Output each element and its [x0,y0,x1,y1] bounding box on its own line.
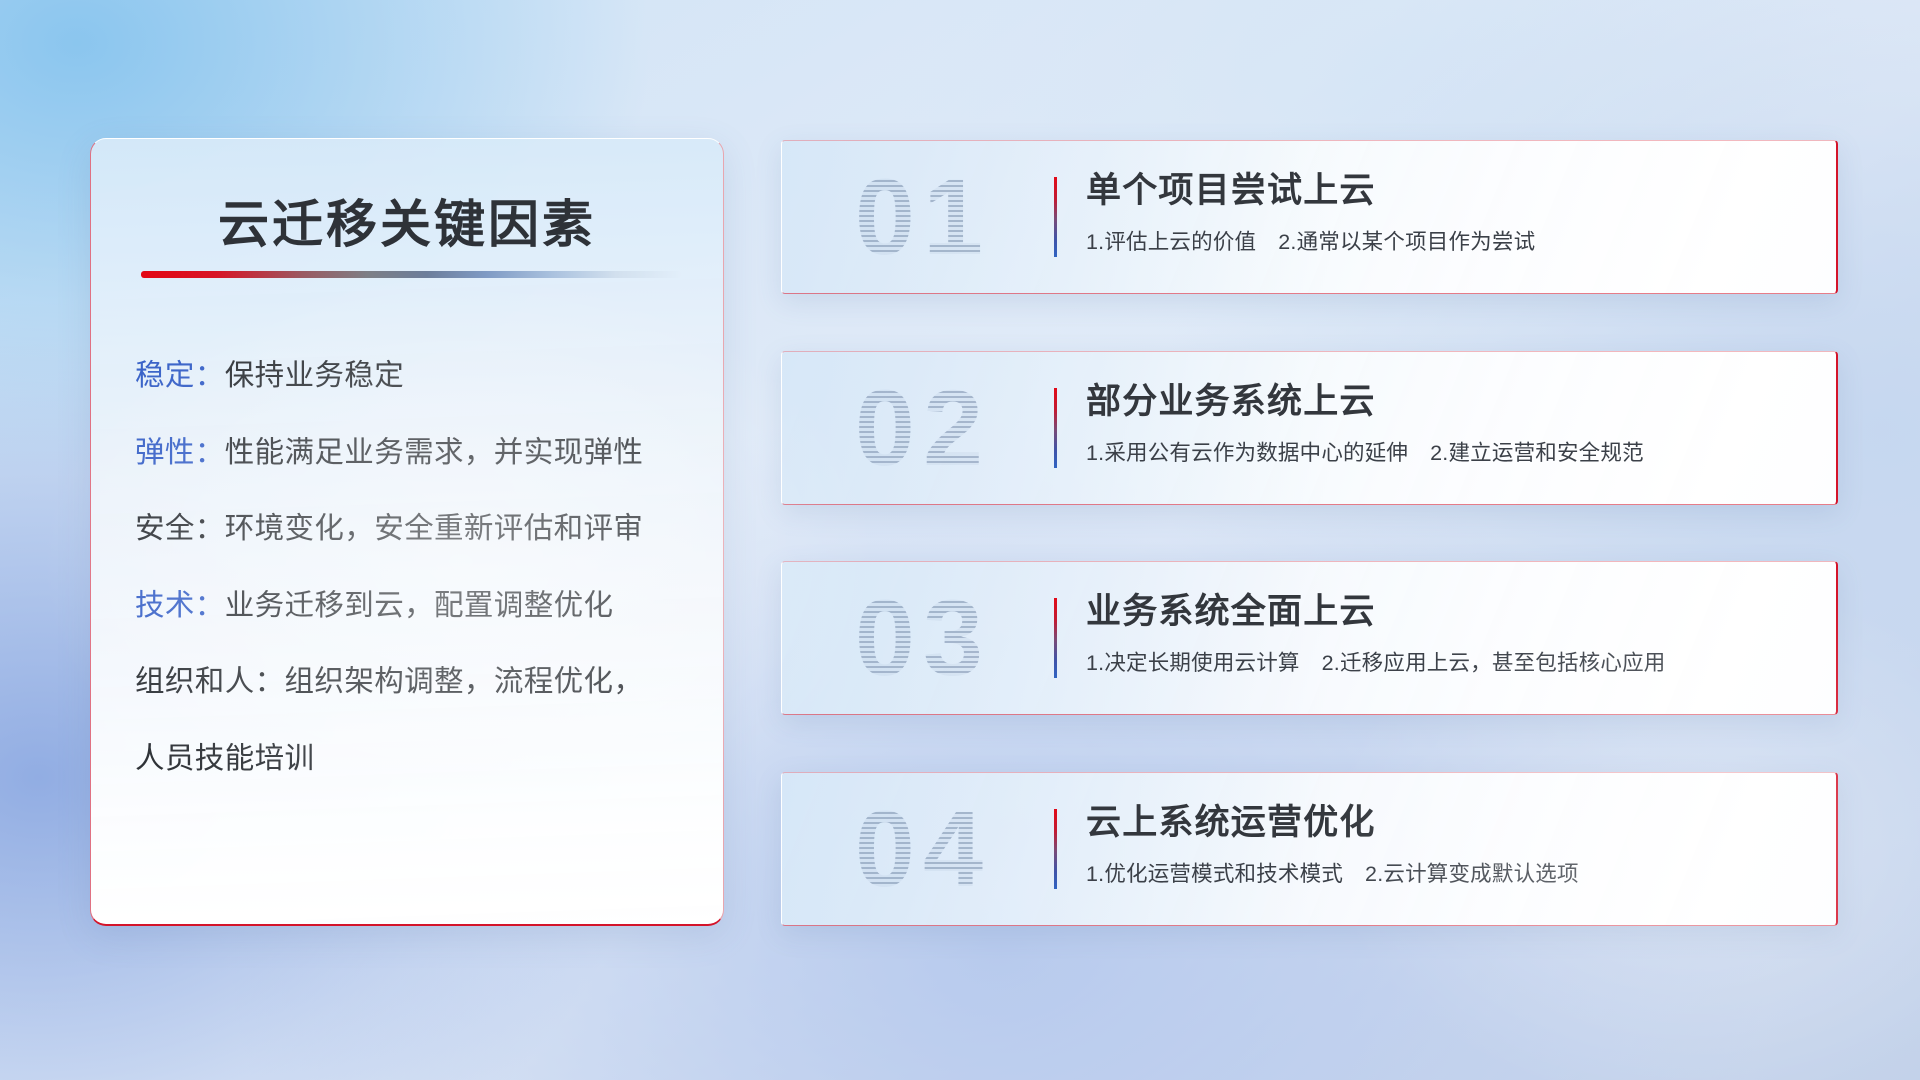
stage-point-02-1: 1.采用公有云作为数据中心的延伸 [1086,441,1408,465]
key-factor-value: 环境变化，安全重新评估和评审 [225,512,644,545]
stage-accent-bar-04 [1054,809,1057,889]
key-factor-item: 稳定：保持业务稳定 [135,361,693,391]
key-factor-label: 安全： [135,512,225,545]
stage-accent-bar-03 [1054,598,1057,678]
key-factor-item: 弹性：性能满足业务需求，并实现弹性 [135,438,693,468]
stage-number-04: 04 [808,787,1038,911]
stage-number-02: 02 [808,366,1038,490]
stage-desc-01: 1.评估上云的价值2.通常以某个项目作为尝试 [1086,230,1810,256]
key-factor-item: 安全：环境变化，安全重新评估和评审 [135,514,693,544]
key-factor-label: 稳定： [135,359,225,392]
stage-text-block-01: 单个项目尝试上云 1.评估上云的价值2.通常以某个项目作为尝试 [1086,171,1810,256]
stage-point-02-2: 2.建立运营和安全规范 [1430,441,1644,465]
stage-card-04[interactable]: 04 04 云上系统运营优化 1.优化运营模式和技术模式2.云计算变成默认选项 [781,772,1838,926]
key-factor-value: 人员技能培训 [135,742,314,775]
key-factor-value: 组织架构调整，流程优化， [285,665,644,698]
stage-desc-04: 1.优化运营模式和技术模式2.云计算变成默认选项 [1086,862,1810,888]
stage-point-04-1: 1.优化运营模式和技术模式 [1086,862,1343,886]
key-factor-value: 保持业务稳定 [225,359,404,392]
stage-title-01: 单个项目尝试上云 [1086,171,1810,211]
key-factor-value: 性能满足业务需求，并实现弹性 [225,436,644,469]
stage-title-03: 业务系统全面上云 [1086,592,1810,632]
key-factor-item: 技术：业务迁移到云，配置调整优化 [135,591,693,621]
stage-text-block-04: 云上系统运营优化 1.优化运营模式和技术模式2.云计算变成默认选项 [1086,803,1810,888]
page-title: 云迁移关键因素 [91,183,723,257]
key-factor-value: 业务迁移到云，配置调整优化 [225,589,614,622]
key-factor-label: 弹性： [135,436,225,469]
stage-text-block-02: 部分业务系统上云 1.采用公有云作为数据中心的延伸2.建立运营和安全规范 [1086,382,1810,467]
stage-card-03[interactable]: 03 03 业务系统全面上云 1.决定长期使用云计算2.迁移应用上云，甚至包括核… [781,561,1838,715]
stage-title-04: 云上系统运营优化 [1086,803,1810,843]
stage-card-02[interactable]: 02 02 部分业务系统上云 1.采用公有云作为数据中心的延伸2.建立运营和安全… [781,351,1838,505]
stage-point-01-1: 1.评估上云的价值 [1086,230,1256,254]
key-factor-item: 人员技能培训 [135,744,693,774]
stage-desc-02: 1.采用公有云作为数据中心的延伸2.建立运营和安全规范 [1086,441,1810,467]
stage-point-03-2: 2.迁移应用上云，甚至包括核心应用 [1322,651,1666,675]
stage-text-block-03: 业务系统全面上云 1.决定长期使用云计算2.迁移应用上云，甚至包括核心应用 [1086,592,1810,677]
stage-number-01: 01 [808,155,1038,279]
stage-number-03: 03 [808,576,1038,700]
title-underline-rule [141,271,681,278]
key-factor-item: 组织和人：组织架构调整，流程优化， [135,667,693,697]
stage-point-03-1: 1.决定长期使用云计算 [1086,651,1300,675]
key-factors-list: 稳定：保持业务稳定弹性：性能满足业务需求，并实现弹性安全：环境变化，安全重新评估… [135,361,693,773]
key-factor-label: 组织和人： [135,665,285,698]
key-factor-label: 技术： [135,589,225,622]
stage-point-04-2: 2.云计算变成默认选项 [1365,862,1579,886]
stage-card-01[interactable]: 01 01 单个项目尝试上云 1.评估上云的价值2.通常以某个项目作为尝试 [781,140,1838,294]
stage-title-02: 部分业务系统上云 [1086,382,1810,422]
key-factors-panel: 云迁移关键因素 稳定：保持业务稳定弹性：性能满足业务需求，并实现弹性安全：环境变… [90,138,724,926]
stage-desc-03: 1.决定长期使用云计算2.迁移应用上云，甚至包括核心应用 [1086,651,1810,677]
stage-accent-bar-01 [1054,177,1057,257]
stage-accent-bar-02 [1054,388,1057,468]
slide-canvas: 云迁移关键因素 稳定：保持业务稳定弹性：性能满足业务需求，并实现弹性安全：环境变… [0,0,1920,1080]
stage-point-01-2: 2.通常以某个项目作为尝试 [1278,230,1535,254]
